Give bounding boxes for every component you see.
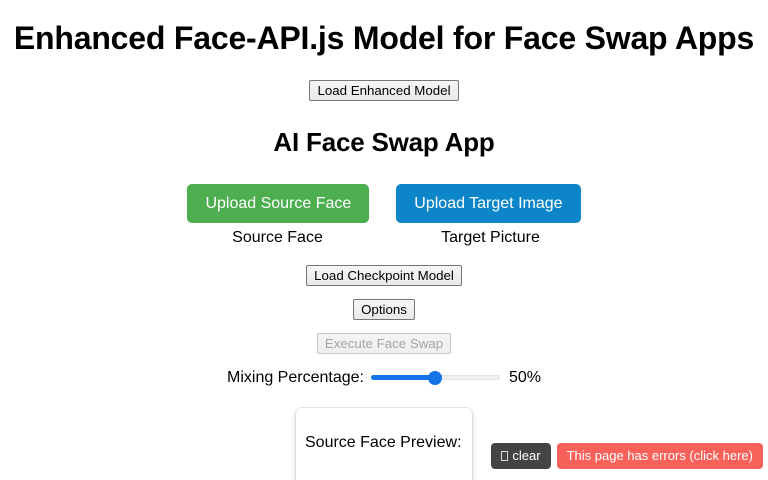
app-page: Enhanced Face-API.js Model for Face Swap… — [0, 0, 768, 480]
options-button[interactable]: Options — [353, 299, 415, 320]
app-heading: AI Face Swap App — [0, 127, 768, 158]
source-face-preview-card: Source Face Preview: — [296, 408, 472, 480]
options-row: Options — [0, 299, 768, 320]
mixing-percentage-value: 50% — [509, 368, 541, 387]
trash-icon — [501, 451, 508, 461]
upload-source-face-button[interactable]: Upload Source Face — [187, 184, 369, 223]
clear-errors-button[interactable]: clear — [491, 443, 550, 469]
mixing-percentage-label: Mixing Percentage: — [227, 368, 364, 387]
page-has-errors-button[interactable]: This page has errors (click here) — [557, 443, 763, 469]
source-face-caption: Source Face — [185, 228, 371, 247]
mixing-percentage-slider[interactable] — [371, 370, 500, 386]
clear-errors-label: clear — [512, 448, 540, 463]
execute-face-swap-row: Execute Face Swap — [0, 333, 768, 354]
target-picture-caption: Target Picture — [398, 228, 584, 247]
slider-fill — [371, 375, 436, 380]
load-checkpoint-model-button[interactable]: Load Checkpoint Model — [306, 265, 462, 286]
execute-face-swap-button[interactable]: Execute Face Swap — [317, 333, 451, 354]
page-title: Enhanced Face-API.js Model for Face Swap… — [0, 19, 768, 57]
source-face-preview-title: Source Face Preview: — [305, 433, 462, 452]
mixing-percentage-row: Mixing Percentage: 50% — [0, 368, 768, 387]
load-enhanced-model-row: Load Enhanced Model — [0, 80, 768, 101]
load-checkpoint-model-row: Load Checkpoint Model — [0, 265, 768, 286]
upload-buttons-row: Upload Source Face Upload Target Image — [0, 184, 768, 223]
load-enhanced-model-button[interactable]: Load Enhanced Model — [309, 80, 458, 101]
slider-thumb[interactable] — [428, 371, 442, 385]
upload-captions-row: Source Face Target Picture — [0, 228, 768, 247]
upload-target-image-button[interactable]: Upload Target Image — [396, 184, 580, 223]
error-toolbar: clear This page has errors (click here) — [491, 443, 763, 469]
